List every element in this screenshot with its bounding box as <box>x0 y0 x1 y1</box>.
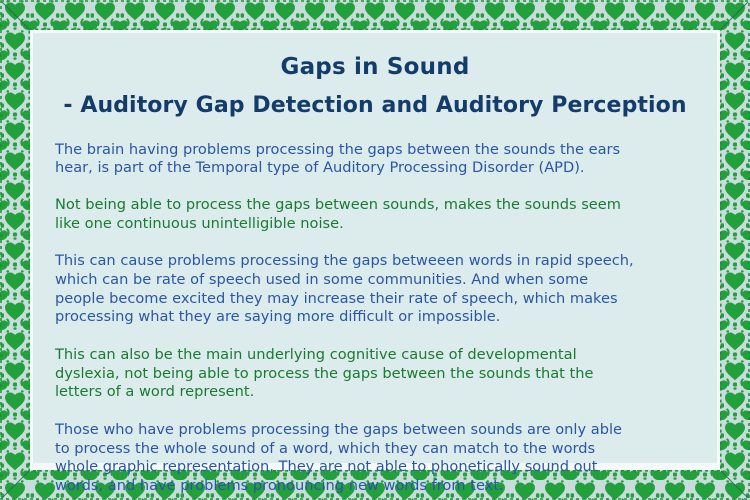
content-panel: Gaps in Sound - Auditory Gap Detection a… <box>33 33 717 463</box>
paragraph-2: Not being able to process the gaps betwe… <box>55 196 693 233</box>
paragraph-5: Those who have problems processing the g… <box>55 421 693 496</box>
page-subtitle: - Auditory Gap Detection and Auditory Pe… <box>51 93 699 118</box>
slide-canvas: Gaps in Sound - Auditory Gap Detection a… <box>0 0 750 500</box>
paragraph-4: This can also be the main underlying cog… <box>55 346 693 402</box>
body-text-block: The brain having problems processing the… <box>51 141 699 496</box>
page-title: Gaps in Sound <box>51 54 699 80</box>
paragraph-1: The brain having problems processing the… <box>55 141 693 178</box>
paragraph-3: This can cause problems processing the g… <box>55 252 693 327</box>
